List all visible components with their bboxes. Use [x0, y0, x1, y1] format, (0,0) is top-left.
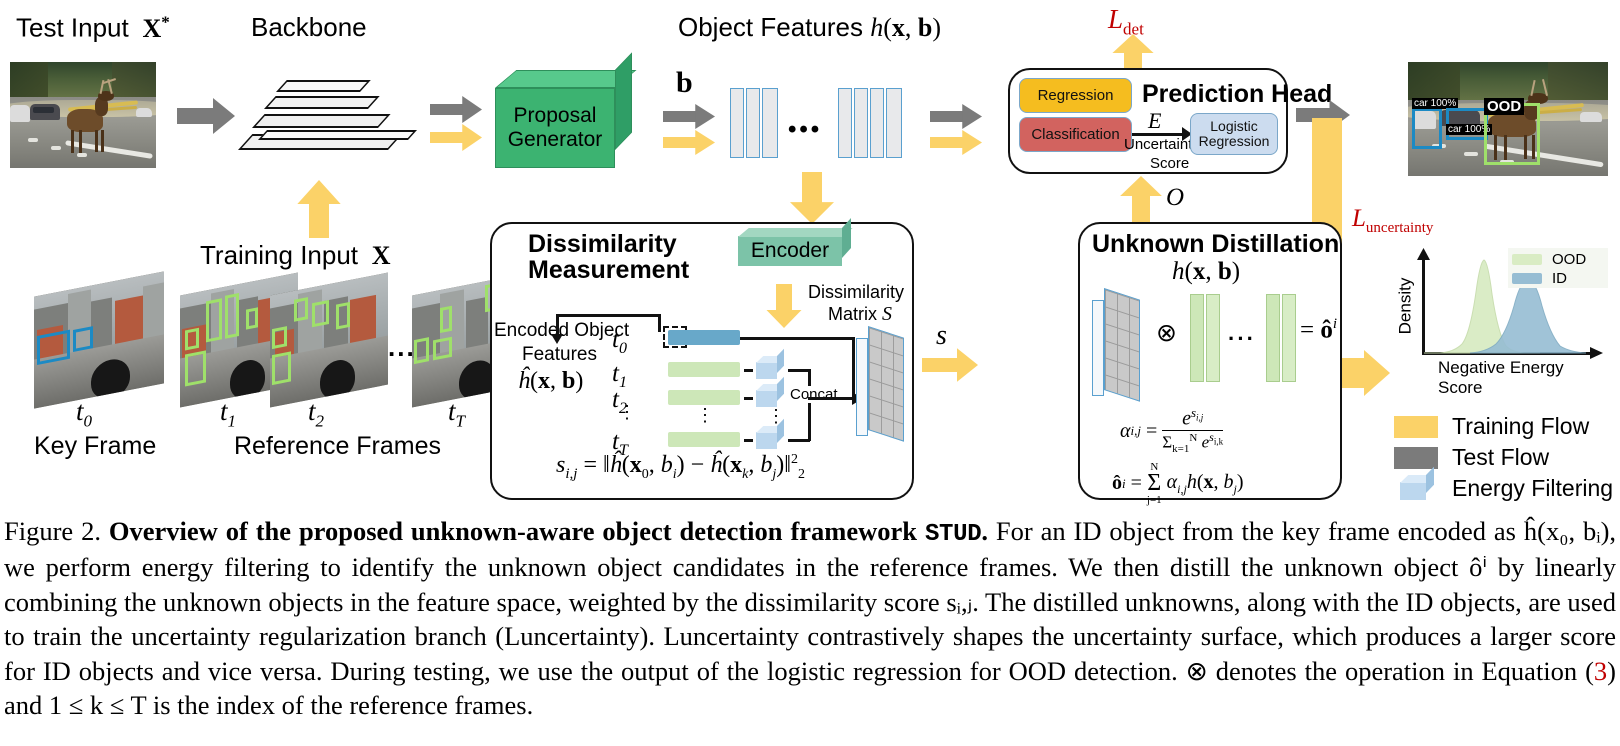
encoded-object-features-math: ĥ(x, b) — [518, 368, 583, 395]
detection-label-ood: OOD — [1484, 98, 1524, 115]
alpha-formula: αi,j = esi,j Σk=1N esi,k — [1120, 406, 1223, 456]
arrow-proposal-to-features-train — [663, 130, 715, 155]
dissim-bar-t0 — [668, 330, 740, 345]
dissim-row-label-t0: t0 — [612, 326, 627, 358]
tensor-product-symbol: ⊗ — [1156, 318, 1177, 348]
reference-frames-label: Reference Frames — [234, 432, 441, 461]
distillation-ellipsis: ··· — [1228, 326, 1256, 352]
regression-label: Regression — [1038, 87, 1114, 104]
dissimilarity-title-line1: Dissimilarity — [528, 230, 677, 259]
training-input-text: Training Input — [200, 240, 358, 270]
chart-ylabel: Density — [1395, 278, 1415, 335]
key-frame-group: t0 Key Frame — [28, 280, 168, 420]
caption-framework-name: STUD — [925, 521, 981, 548]
label-backbone: Backbone — [251, 12, 367, 43]
dissimilarity-matrix-slab — [856, 326, 912, 444]
uncertainty-label: Uncertainty — [1124, 136, 1200, 153]
energy-cube-tT — [756, 426, 786, 454]
caption-fig-number: Figure 2. — [4, 516, 101, 546]
legend-swatch-energy-filtering — [1400, 475, 1436, 501]
dissimilarity-formula: si,j = ‖ĥ(x0, bi) − ĥ(xk, bj)‖22 — [556, 452, 805, 483]
logistic-line2: Regression — [1199, 134, 1270, 149]
arrow-features-to-dissimilarity — [790, 172, 834, 224]
O-symbol: O — [1166, 184, 1184, 212]
dissim-bar-t2 — [668, 390, 740, 405]
arrow-encoder-down — [766, 284, 802, 328]
arrow-training-into-backbone — [297, 180, 341, 238]
key-frame-t-label: t0 — [76, 396, 92, 431]
score-label: Score — [1150, 155, 1189, 172]
dissim-rows-vdots: ⋮ — [618, 402, 636, 423]
proposal-generator-line2: Generator — [508, 128, 603, 152]
backbone-stack — [238, 70, 428, 180]
label-object-features: Object Features h(x, b) — [678, 12, 941, 43]
arrow-dissimilarity-to-distillation — [922, 348, 978, 382]
logistic-line1: Logistic — [1210, 119, 1257, 134]
arrow-backbone-to-proposal-train — [430, 124, 482, 151]
encoded-object-features-line2: Features — [522, 344, 597, 366]
label-b-symbol: b — [676, 66, 693, 100]
legend-swatch-test-flow — [1394, 447, 1438, 469]
legend-label-test-flow: Test Flow — [1452, 444, 1549, 471]
arrow-features-to-head-test — [930, 104, 982, 129]
object-feature-slabs: ••• — [730, 78, 930, 168]
classification-button[interactable]: Classification — [1019, 117, 1132, 152]
arrow-proposal-to-features-test — [663, 104, 715, 129]
chart-legend: OOD ID — [1508, 248, 1608, 288]
label-test-input: Test Input X* — [16, 12, 170, 44]
reference-frame-t2 — [270, 273, 388, 408]
chart-xlabel: Negative Energy Score — [1438, 358, 1612, 398]
chart-legend-label-ood: OOD — [1552, 251, 1586, 268]
distillation-feature-slabs: ··· — [1190, 288, 1308, 394]
encoder-box[interactable]: Encoder — [738, 228, 862, 276]
dissimilarity-title-line2: Measurement — [528, 256, 689, 285]
key-frame-label: Key Frame — [34, 432, 156, 461]
object-features-text: Object Features — [678, 12, 863, 42]
distillation-equals-o: = ôi — [1300, 316, 1337, 344]
output-photo: car 100% car 100% OOD — [1408, 62, 1608, 176]
reference-frame-tT-label: tT — [448, 396, 465, 431]
E-symbol: E — [1148, 108, 1161, 134]
figure-caption: Figure 2. Overview of the proposed unkno… — [0, 514, 1620, 722]
unknown-distillation-h-math: h(x, b) — [1172, 258, 1240, 286]
caption-bold-title: Overview of the proposed unknown-aware o… — [109, 516, 925, 546]
dissim-bars-vdots: ⋮ — [696, 405, 714, 426]
arrow-test-to-backbone — [177, 98, 235, 134]
legend-label-training-flow: Training Flow — [1452, 413, 1589, 440]
reference-frame-t2-label: t2 — [308, 396, 324, 431]
logistic-regression-button[interactable]: Logistic Regression — [1190, 113, 1278, 155]
caption-bold-end: . — [981, 516, 988, 546]
dissim-bar-t1 — [668, 362, 740, 377]
proposal-generator-line1: Proposal — [514, 104, 597, 128]
arrow-backbone-to-proposal-test — [430, 96, 482, 123]
distillation-matrix-slab — [1092, 288, 1148, 404]
chart-legend-label-id: ID — [1552, 270, 1567, 287]
arrow-features-to-head-train — [930, 130, 982, 155]
label-training-input: Training Input X — [200, 240, 391, 271]
encoded-object-features-line1: Encoded Object — [494, 320, 629, 342]
legend-swatch-training-flow — [1394, 416, 1438, 438]
unknown-distillation-title: Unknown Distillation — [1092, 230, 1339, 259]
o-hat-formula: ôi = N Σ j=1 αi,jh(x, bj) — [1112, 462, 1244, 506]
test-input-text: Test Input — [16, 13, 129, 43]
density-chart: OOD ID Density Negative Energy Score — [1400, 248, 1612, 373]
reference-frames-group: ... t1 t2 tT Reference Frames — [180, 280, 490, 420]
reference-frame-t1-label: t1 — [220, 396, 236, 431]
dissim-bar-tT — [668, 432, 740, 447]
flow-legend: Training Flow Test Flow Energy Filtering — [1394, 413, 1620, 503]
key-frame-photo — [34, 271, 164, 408]
test-input-photo — [10, 62, 156, 168]
caption-equation-ref[interactable]: 3 — [1594, 656, 1607, 686]
legend-label-energy-filtering: Energy Filtering — [1452, 475, 1613, 502]
encoder-label: Encoder — [738, 236, 842, 266]
dissimilarity-matrix-label-2: Matrix S — [828, 303, 892, 326]
proposal-generator-box[interactable]: Proposal Generator — [495, 70, 635, 170]
arrow-distillation-to-head — [1120, 176, 1162, 224]
concat-label: Concat — [788, 386, 840, 403]
regression-button[interactable]: Regression — [1019, 78, 1132, 113]
figure-overview: Test Input X* Backbone Object Features h… — [0, 0, 1620, 512]
features-ellipsis: ••• — [788, 116, 822, 144]
dissimilarity-matrix-label-1: Dissimilarity — [808, 282, 904, 303]
loss-uncertainty-label: Luncertainty — [1352, 205, 1433, 237]
classification-label: Classification — [1031, 126, 1119, 143]
